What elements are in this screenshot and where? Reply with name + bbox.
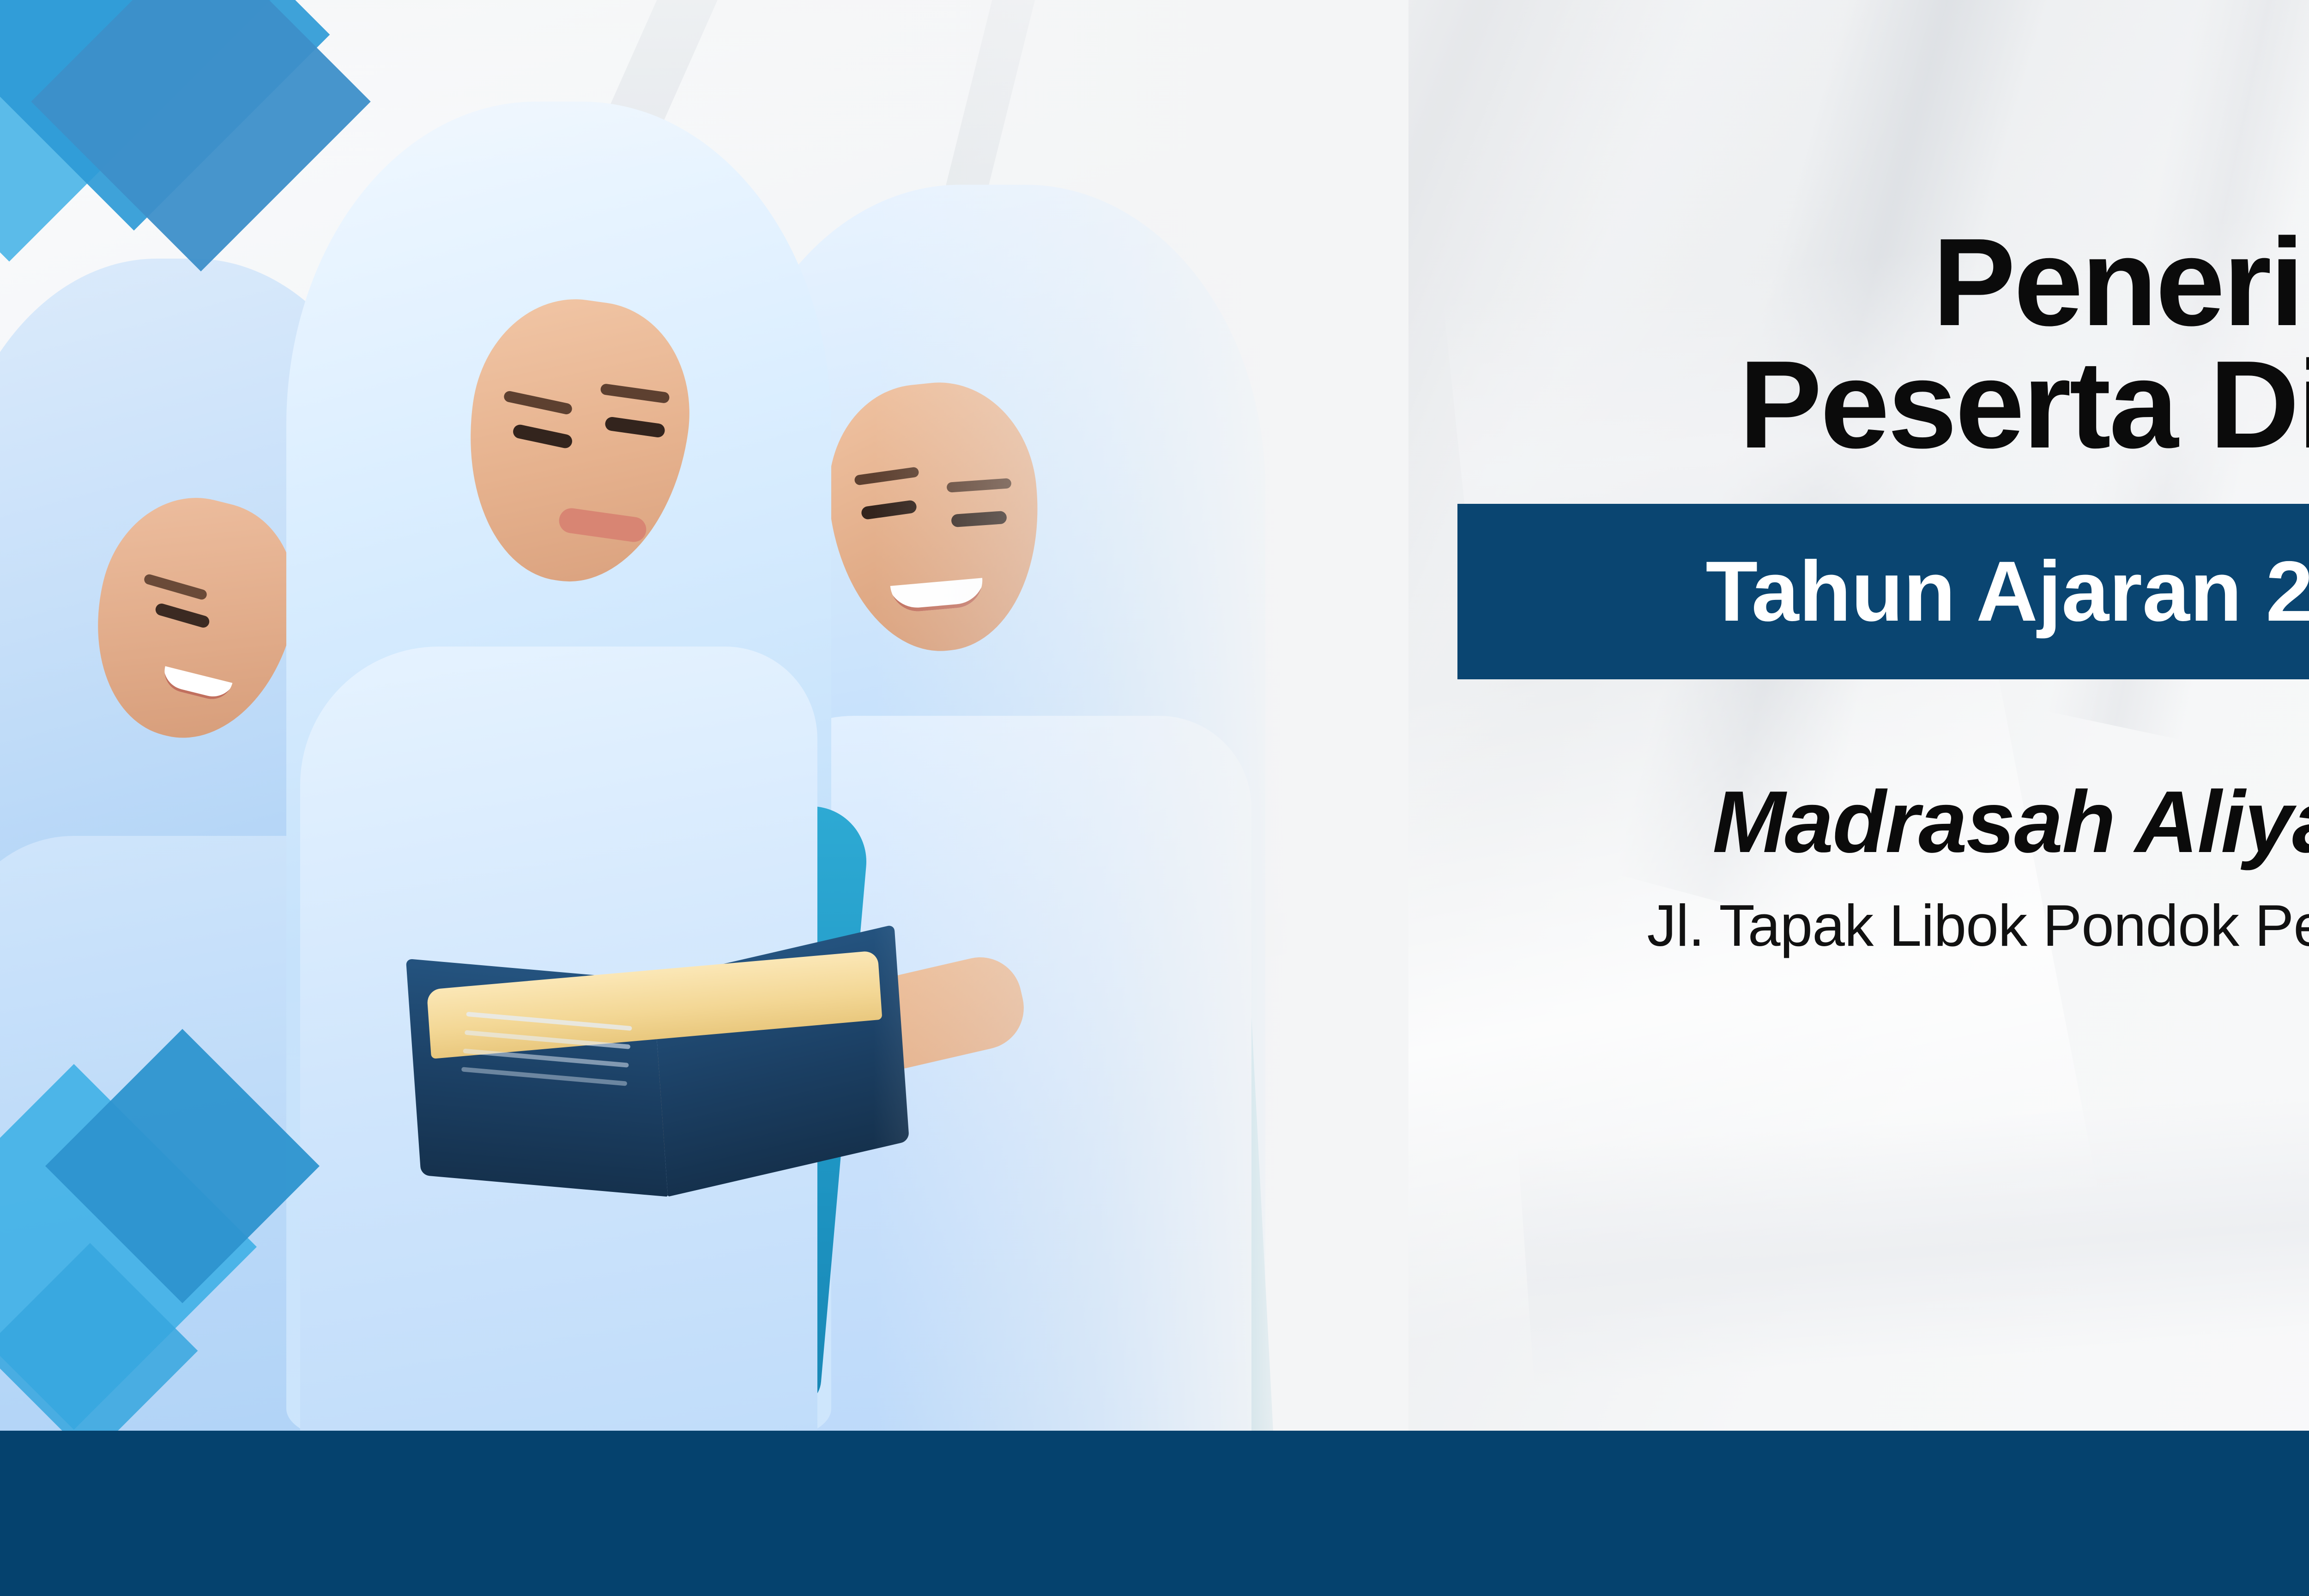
school-name: Madrasah Aliyah Ma’arif NU — [1455, 772, 2309, 872]
school-address: Jl. Tapak Libok Pondok Pesantren Darussa… — [1455, 892, 2309, 959]
ppdb-banner: Penerimaan Peserta Didik Baru Tahun Ajar… — [0, 0, 2309, 1596]
academic-year-badge: Tahun Ajaran 2025 / 2026 — [1457, 504, 2309, 679]
banner-headline: Penerimaan Peserta Didik Baru — [1455, 222, 2309, 466]
headline-line-1: Penerimaan — [1455, 222, 2309, 344]
footer-bar — [0, 1431, 2309, 1596]
headline-line-2: Peserta Didik Baru — [1455, 344, 2309, 466]
academic-year-label: Tahun Ajaran 2025 / 2026 — [1705, 543, 2309, 641]
banner-text-block: Penerimaan Peserta Didik Baru Tahun Ajar… — [1455, 222, 2309, 959]
